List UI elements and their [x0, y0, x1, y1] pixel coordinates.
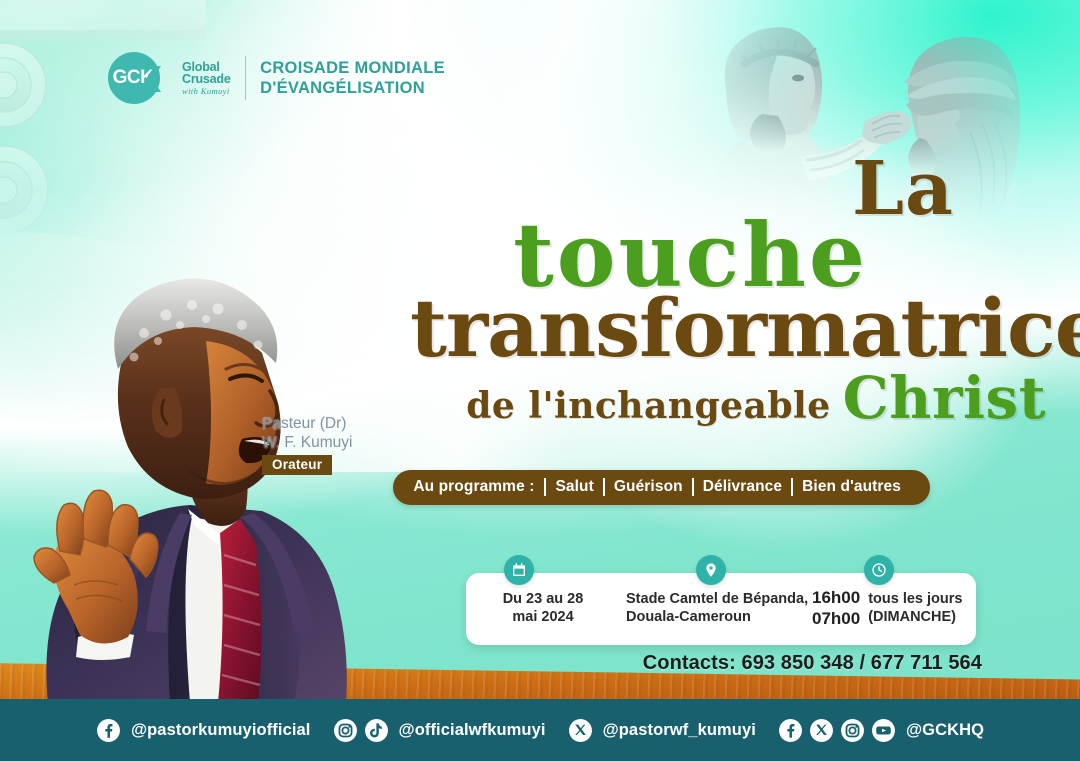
- social-footer-bar: @pastorkumuyiofficial @officialwfkumuyi: [0, 699, 1080, 761]
- header-title: CROISADE MONDIALE D'ÉVANGÉLISATION: [260, 58, 445, 99]
- social-icons: [96, 718, 121, 743]
- gck-logo-icon: GCK ❮: [108, 52, 160, 104]
- event-time-column: 16h00 07h00: [812, 588, 860, 629]
- programme-item-delivrance: Délivrance: [692, 478, 791, 496]
- facebook-icon[interactable]: [96, 718, 121, 743]
- speaker-name-line: W. F. Kumuyi: [262, 433, 352, 452]
- social-icons: [568, 718, 593, 743]
- event-time-block: 16h00 07h00 tous les jours (DIMANCHE): [812, 573, 976, 645]
- social-group-instagram-tiktok: @officialwfkumuyi: [333, 718, 546, 743]
- chevron-left-icon: ❮: [143, 66, 164, 91]
- clock-icon: [864, 555, 894, 585]
- social-group-facebook: @pastorkumuyiofficial: [96, 718, 311, 743]
- contacts-line: Contacts: 693 850 348 / 677 711 564: [643, 652, 982, 675]
- event-venue-block: Stade Camtel de Bépanda, Douala-Cameroun: [620, 573, 812, 645]
- brand-header: GCK ❮ Global Crusade with Kumuyi CROISAD…: [108, 52, 445, 104]
- page-title: La touche transformatrice de l'inchangea…: [410, 158, 1050, 432]
- social-icons: [333, 718, 389, 743]
- programme-item-salut: Salut: [544, 478, 602, 496]
- event-day-primary: tous les jours: [868, 591, 962, 609]
- programme-item-bien-dautres: Bien d'autres: [791, 478, 910, 496]
- logo-wordmark: Global Crusade with Kumuyi: [174, 61, 231, 96]
- poster-canvas: GCK ❮ Global Crusade with Kumuyi CROISAD…: [0, 0, 1080, 761]
- event-time-primary: 16h00: [812, 588, 860, 609]
- social-handle-gckhq[interactable]: @GCKHQ: [906, 721, 984, 740]
- event-day-column: tous les jours (DIMANCHE): [868, 591, 962, 626]
- event-day-secondary: (DIMANCHE): [868, 609, 962, 627]
- social-handle-instagram-tiktok[interactable]: @officialwfkumuyi: [399, 721, 546, 740]
- programme-lead-label: Au programme :: [413, 478, 544, 496]
- social-icons: [778, 718, 896, 743]
- x-twitter-icon[interactable]: [809, 718, 834, 743]
- social-group-gckhq: @GCKHQ: [778, 718, 984, 743]
- speaker-role-badge: Orateur: [262, 455, 332, 475]
- calendar-icon: [504, 555, 534, 585]
- title-word-inchangeable: de l'inchangeable: [466, 385, 830, 427]
- facebook-icon[interactable]: [778, 718, 803, 743]
- youtube-icon[interactable]: [871, 718, 896, 743]
- speaker-title-line: Pasteur (Dr): [262, 414, 352, 433]
- instagram-icon[interactable]: [840, 718, 865, 743]
- event-date-text: Du 23 au 28 mai 2024: [503, 591, 584, 626]
- social-handle-facebook[interactable]: @pastorkumuyiofficial: [131, 721, 311, 740]
- programme-banner: Au programme : Salut Guérison Délivrance…: [393, 470, 930, 505]
- title-word-christ: Christ: [843, 364, 1046, 432]
- event-venue-text: Stade Camtel de Bépanda, Douala-Cameroun: [626, 591, 808, 626]
- speaker-credit: Pasteur (Dr) W. F. Kumuyi Orateur: [262, 414, 352, 475]
- event-details-card: Du 23 au 28 mai 2024 Stade Camtel de Bép…: [466, 573, 976, 645]
- pastor-kumuyi-photo: [0, 233, 464, 703]
- x-twitter-icon[interactable]: [568, 718, 593, 743]
- tiktok-icon[interactable]: [364, 718, 389, 743]
- title-word-transformatrice: transformatrice: [410, 291, 1048, 366]
- logo-word-crusade: Crusade: [182, 73, 231, 86]
- event-date-block: Du 23 au 28 mai 2024: [466, 573, 620, 645]
- social-group-x: @pastorwf_kumuyi: [568, 718, 756, 743]
- social-handle-x[interactable]: @pastorwf_kumuyi: [603, 721, 756, 740]
- logo-word-with-kumuyi: with Kumuyi: [182, 87, 231, 96]
- location-pin-icon: [696, 555, 726, 585]
- event-time-secondary: 07h00: [812, 609, 860, 630]
- logo-divider: [245, 56, 247, 100]
- programme-item-guerison: Guérison: [603, 478, 692, 496]
- event-time-grid: 16h00 07h00 tous les jours (DIMANCHE): [812, 588, 962, 629]
- instagram-icon[interactable]: [333, 718, 358, 743]
